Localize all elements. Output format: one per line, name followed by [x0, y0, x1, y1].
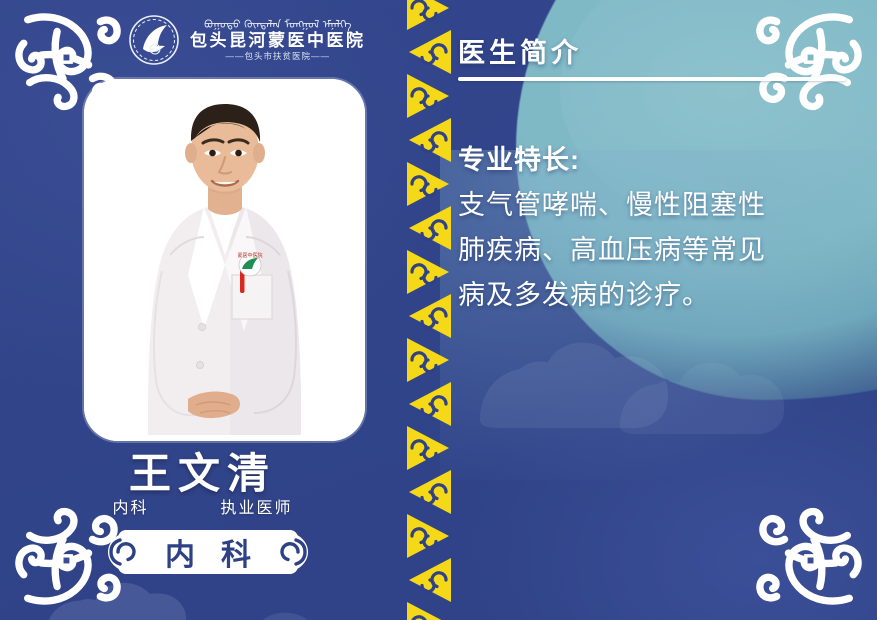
- cloud-swirl-icon: [612, 330, 792, 450]
- hospital-subtitle: ——包头市扶贫医院——: [225, 52, 330, 61]
- doctor-name: 王文清: [0, 440, 405, 501]
- corner-ornament-top-right: [753, 4, 871, 112]
- panel-heading-rule: [458, 77, 846, 81]
- specialty-line: 肺疾病、高血压病等常见: [458, 228, 854, 273]
- specialty-line: 病及多发病的诊疗。: [458, 273, 854, 318]
- cloud-swirl-icon: [200, 590, 370, 620]
- hospital-leaf-emblem-icon: 蒙医: [127, 13, 181, 67]
- department-badge-label: 内科: [139, 530, 277, 574]
- corner-ornament-bottom-right: [753, 506, 871, 614]
- department-badge: 内科: [92, 527, 324, 577]
- doctor-profile-poster: 蒙医 ᠪᠤᠭᠤᠲᠤ ᠬᠦᠨᠳᠡᠯᠡᠨ ᠮᠣᠩᠭᠣᠯ ᠡᠮᠨᠡᠯᠭᠡ 包头昆河蒙医…: [0, 0, 877, 620]
- hospital-name-block: ᠪᠤᠭᠤᠲᠤ ᠬᠦᠨᠳᠡᠯᠡᠨ ᠮᠣᠩᠭᠣᠯ ᠡᠮᠨᠡᠯᠭᠡ 包头昆河蒙医中医院…: [190, 19, 366, 61]
- doctor-photo: 蒙医中医院: [84, 79, 365, 441]
- specialty-label: 专业特长:: [458, 138, 854, 183]
- specialty-line: 支气管哮喘、慢性阻塞性: [458, 183, 854, 228]
- svg-text:蒙医: 蒙医: [151, 46, 159, 52]
- panel-heading: 医生简介: [458, 31, 582, 70]
- hospital-name: 包头昆河蒙医中医院: [190, 32, 366, 49]
- specialty-block: 专业特长: 支气管哮喘、慢性阻塞性 肺疾病、高血压病等常见 病及多发病的诊疗。: [458, 138, 854, 318]
- doctor-meta: 内科 执业医师: [0, 494, 405, 518]
- doctor-title: 执业医师: [221, 494, 293, 518]
- doctor-department: 内科: [112, 494, 148, 518]
- hospital-branding: 蒙医 ᠪᠤᠭᠤᠲᠤ ᠬᠦᠨᠳᠡᠯᠡᠨ ᠮᠣᠩᠭᠣᠯ ᠡᠮᠨᠡᠯᠭᠡ 包头昆河蒙医…: [127, 13, 366, 67]
- svg-text:蒙医中医院: 蒙医中医院: [237, 252, 262, 259]
- mongolian-script-line: ᠪᠤᠭᠤᠲᠤ ᠬᠦᠨᠳᠡᠯᠡᠨ ᠮᠣᠩᠭᠣᠯ ᠡᠮᠨᠡᠯᠭᠡ: [204, 19, 351, 30]
- center-divider-band: [405, 0, 453, 620]
